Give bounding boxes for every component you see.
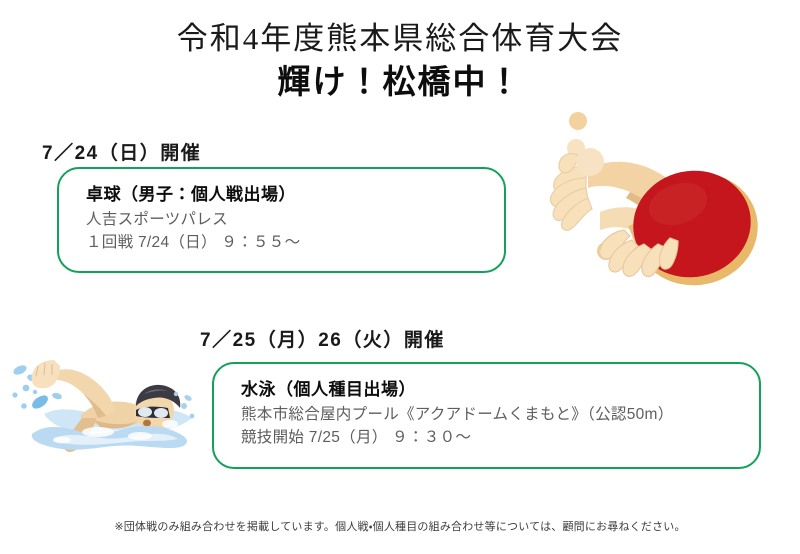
- poster-title-block: 令和4年度熊本県総合体育大会 輝け！松橋中！: [0, 20, 800, 105]
- date-header-swimming: 7／25（月）26（火）開催: [200, 325, 445, 352]
- poster-canvas: 令和4年度熊本県総合体育大会 輝け！松橋中！ 7／24（日）開催 卓球（男子：個…: [0, 0, 800, 554]
- table-tennis-illustration: [528, 108, 764, 298]
- swimming-illustration: [2, 348, 200, 468]
- footer-note: ※団体戦のみ組み合わせを掲載しています。個人戦・個人種目の組み合わせ等については…: [0, 518, 800, 534]
- poster-title-line-2: 輝け！松橋中！: [0, 62, 800, 105]
- event-venue-table-tennis: 人吉スポーツパレス: [86, 208, 300, 231]
- poster-title-line-1: 令和4年度熊本県総合体育大会: [0, 20, 800, 59]
- event-title-table-tennis: 卓球（男子：個人戦出場）: [86, 183, 300, 208]
- wrist-highlight: [576, 148, 604, 176]
- event-schedule-swimming: 競技開始 7/25（月） ９：３０〜: [241, 426, 674, 449]
- event-card-swimming: 水泳（個人種目出場） 熊本市総合屋内プール《アクアドームくまもと》（公認50m）…: [212, 362, 761, 469]
- event-venue-swimming: 熊本市総合屋内プール《アクアドームくまもと》（公認50m）: [241, 403, 674, 426]
- event-title-swimming: 水泳（個人種目出場）: [241, 378, 674, 403]
- swim-goggles: [136, 407, 170, 418]
- event-card-content: 卓球（男子：個人戦出場） 人吉スポーツパレス １回戦 7/24（日） ９：５５〜: [86, 183, 300, 254]
- date-header-table-tennis: 7／24（日）開催: [42, 138, 201, 165]
- event-card-content: 水泳（個人種目出場） 熊本市総合屋内プール《アクアドームくまもと》（公認50m）…: [241, 378, 674, 449]
- ping-pong-ball-top: [569, 112, 587, 130]
- swimmer-mouth: [143, 420, 151, 427]
- event-schedule-table-tennis: １回戦 7/24（日） ９：５５〜: [86, 231, 300, 254]
- event-card-table-tennis: 卓球（男子：個人戦出場） 人吉スポーツパレス １回戦 7/24（日） ９：５５〜: [57, 167, 506, 273]
